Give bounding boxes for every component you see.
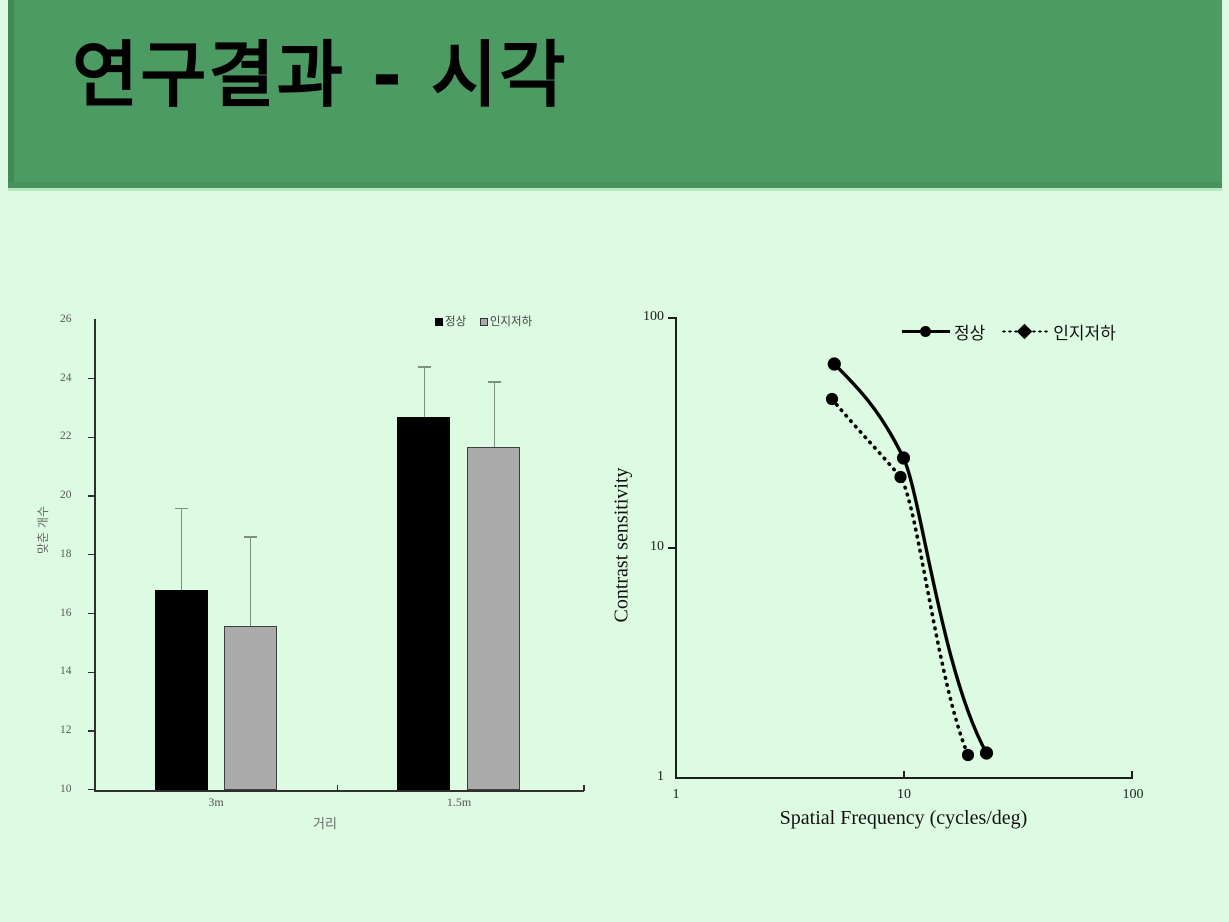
errorbar-cap-1p5m-normal	[418, 366, 431, 368]
csf-y-axis-title: Contrast sensitivity	[611, 468, 634, 623]
slide-canvas: 연구결과 - 시각 정상 인지저하 26 24 22 20 18 16 14 1…	[0, 0, 1229, 922]
csf-chart: 정상 인지저하 100 10 1 1 10 100	[612, 295, 1212, 840]
legend-entry-impaired: 인지저하	[480, 314, 532, 328]
csf-point-normal-1	[828, 357, 841, 370]
bar-y-tick-16	[88, 613, 95, 614]
bar-y-tick-24	[88, 378, 95, 379]
bar-chart: 정상 인지저하 26 24 22 20 18 16 14 12 10 3m 1.…	[40, 295, 610, 840]
bar-x-axis-title: 거리	[40, 813, 610, 832]
csf-line-normal	[834, 364, 986, 753]
csf-curves	[612, 295, 1212, 840]
banner-left-edge	[8, 0, 14, 188]
bar-category-label-1p5m: 1.5m	[447, 795, 471, 810]
bar-x-tick-middle	[337, 785, 338, 791]
bar-y-axis-title: 맞춘 개수	[34, 506, 51, 554]
bar-y-label-16: 16	[60, 607, 72, 619]
bar-y-label-20: 20	[60, 489, 72, 501]
errorbar-stem-3m-impaired	[250, 537, 252, 626]
errorbar-cap-3m-impaired	[244, 536, 257, 538]
legend-swatch-black-icon	[435, 318, 443, 326]
csf-point-impaired-3	[962, 749, 974, 761]
csf-x-axis-title: Spatial Frequency (cycles/deg)	[675, 807, 1132, 830]
bar-x-tick-end	[583, 785, 585, 791]
bar-y-label-26: 26	[60, 313, 72, 325]
bar-y-label-18: 18	[60, 548, 72, 560]
errorbar-cap-1p5m-impaired	[488, 381, 501, 383]
bar-3m-impaired	[224, 626, 277, 791]
legend-label-normal: 정상	[445, 314, 466, 328]
errorbar-stem-1p5m-normal	[424, 367, 426, 417]
csf-point-impaired-2	[894, 471, 906, 483]
csf-series-normal	[828, 357, 993, 759]
bar-y-label-14: 14	[60, 665, 72, 677]
bar-y-tick-18	[88, 554, 95, 555]
errorbar-cap-3m-normal	[175, 508, 188, 510]
legend-entry-normal: 정상	[435, 314, 466, 328]
errorbar-stem-3m-normal	[181, 508, 183, 590]
bar-y-label-12: 12	[60, 724, 72, 736]
csf-point-normal-2	[897, 451, 910, 464]
bar-y-tick-10	[88, 789, 95, 790]
bar-y-tick-12	[88, 730, 95, 731]
bar-3m-normal	[155, 590, 208, 790]
bar-y-tick-22	[88, 437, 95, 438]
bar-y-label-10: 10	[60, 783, 72, 795]
bar-chart-legend: 정상 인지저하	[435, 313, 542, 329]
bar-y-tick-26	[94, 319, 96, 325]
page-title: 연구결과 - 시각	[72, 36, 1072, 115]
bar-category-label-3m: 3m	[208, 795, 223, 810]
bar-y-tick-14	[88, 672, 95, 673]
legend-swatch-gray-icon	[480, 318, 488, 326]
legend-label-impaired: 인지저하	[490, 314, 532, 328]
bar-1p5m-normal	[397, 417, 450, 790]
csf-point-normal-3	[980, 746, 993, 759]
errorbar-stem-1p5m-impaired	[494, 382, 496, 447]
bar-1p5m-impaired	[467, 447, 520, 791]
bar-y-label-22: 22	[60, 430, 72, 442]
csf-point-impaired-1	[826, 393, 838, 405]
bar-y-label-24: 24	[60, 372, 72, 384]
banner-bottom-highlight	[8, 188, 1222, 191]
bar-y-tick-20	[88, 495, 95, 496]
